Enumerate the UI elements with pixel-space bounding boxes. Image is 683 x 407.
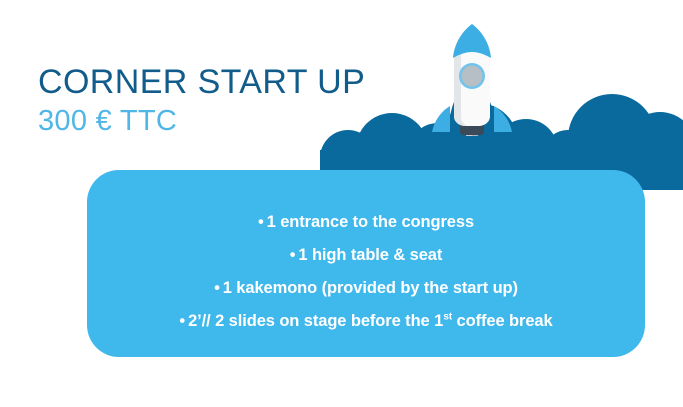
list-item-label-suffix: coffee break [452,312,553,330]
bullet-dot-icon: • [290,246,296,264]
rocket-illustration [300,10,683,190]
benefits-panel: •1 entrance to the congress •1 high tabl… [87,170,645,357]
bullet-dot-icon: • [214,279,220,297]
bullet-dot-icon: • [179,312,185,330]
list-item: •1 kakemono (provided by the start up) [87,272,645,305]
list-item-label-prefix: 2’// 2 slides on stage before the 1 [188,312,443,330]
rocket-icon [432,24,512,136]
slide-canvas: CORNER START UP 300 € TTC [0,0,683,407]
list-item: •1 high table & seat [87,239,645,272]
ordinal-suffix: st [443,312,452,323]
bullet-dot-icon: • [258,213,264,231]
list-item: •2’// 2 slides on stage before the 1st c… [87,305,645,338]
list-item-label: 1 high table & seat [298,246,442,264]
list-item-label: 1 entrance to the congress [267,213,474,231]
benefits-list: •1 entrance to the congress •1 high tabl… [87,206,645,338]
list-item-label: 1 kakemono (provided by the start up) [223,279,518,297]
list-item: •1 entrance to the congress [87,206,645,239]
